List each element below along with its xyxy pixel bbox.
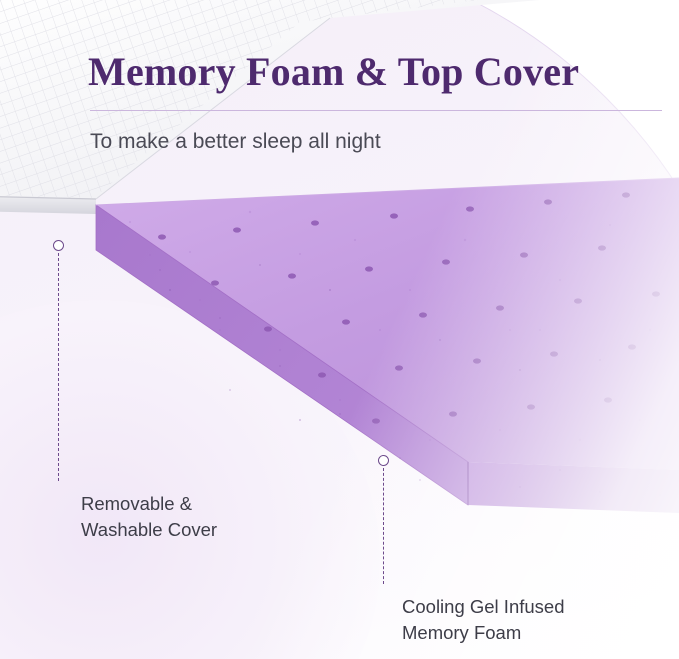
callout-leader-foam bbox=[383, 468, 384, 584]
title-divider bbox=[90, 110, 662, 111]
callout-label-cooling-gel-memory-foam: Cooling Gel Infused Memory Foam bbox=[402, 594, 652, 646]
page-title: Memory Foam & Top Cover bbox=[88, 48, 668, 96]
product-infographic: Memory Foam & Top Cover To make a better… bbox=[0, 0, 679, 659]
mattress-illustration bbox=[0, 0, 679, 659]
callout-marker-cover bbox=[53, 240, 64, 251]
callout-leader-cover bbox=[58, 253, 59, 481]
page-subtitle: To make a better sleep all night bbox=[90, 128, 670, 156]
callout-marker-foam bbox=[378, 455, 389, 466]
callout-label-removable-washable-cover: Removable & Washable Cover bbox=[81, 491, 311, 543]
